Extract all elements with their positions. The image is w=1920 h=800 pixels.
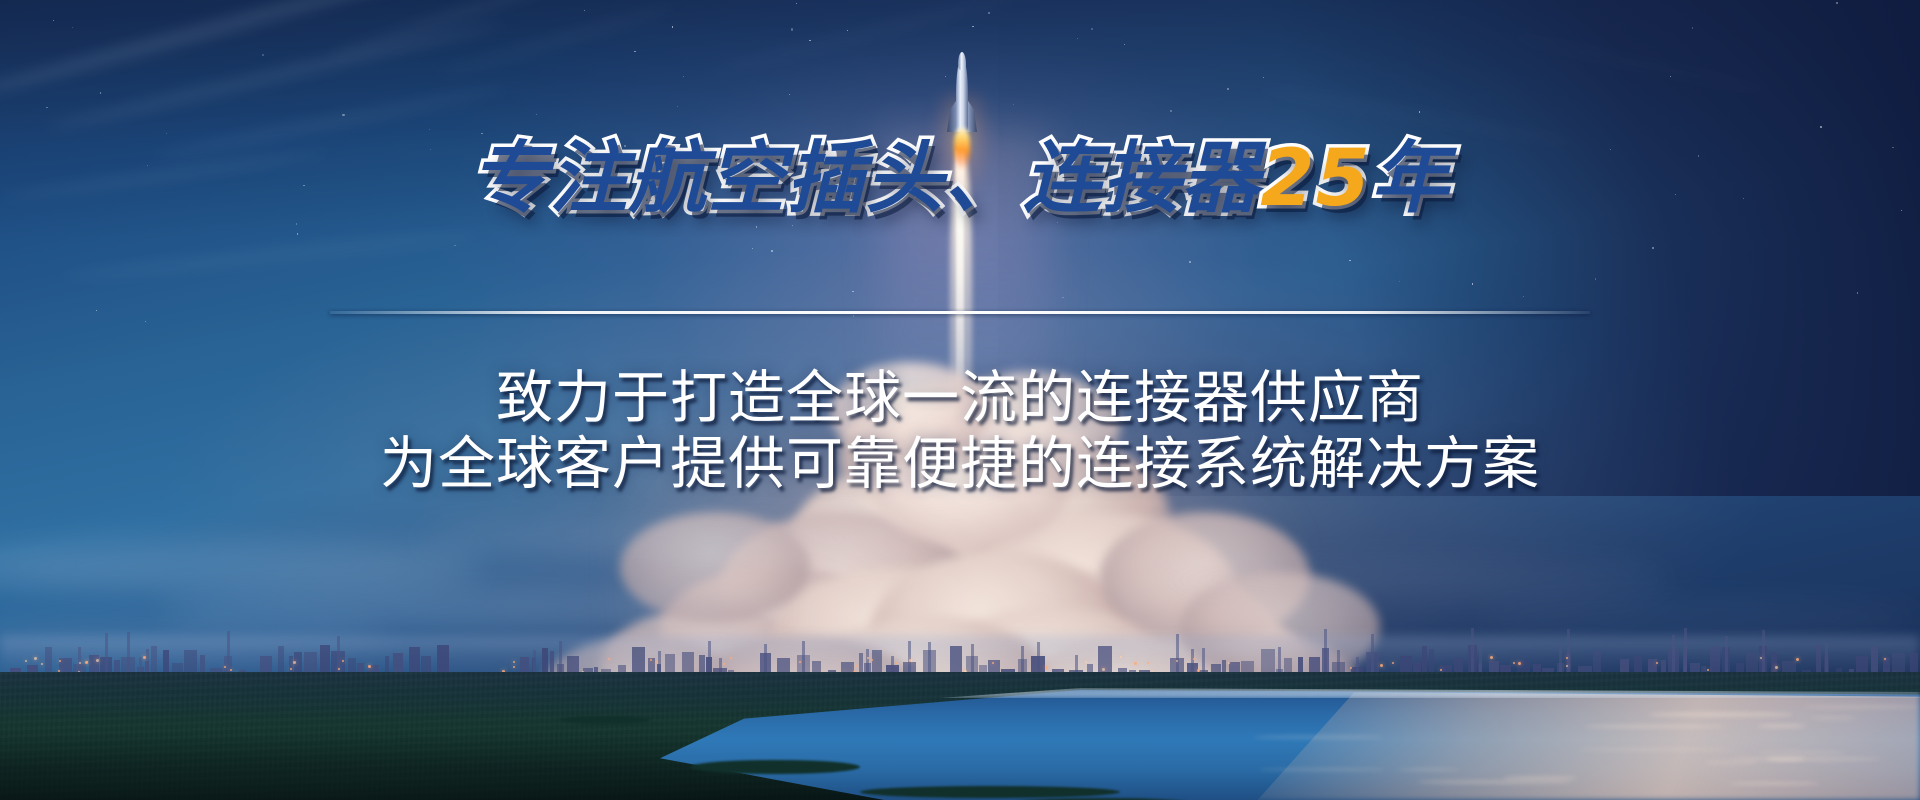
headline-main-text: 专注航空插头、连接器 <box>470 140 1260 218</box>
banner-content: 专注航空插头、连接器25年 致力于打造全球一流的连接器供应商 为全球客户提供可靠… <box>0 0 1920 800</box>
title-divider <box>330 311 1590 314</box>
headline-years-unit: 年 <box>1371 140 1450 218</box>
page-title: 专注航空插头、连接器25年 <box>0 140 1920 218</box>
hero-banner: 专注航空插头、连接器25年 致力于打造全球一流的连接器供应商 为全球客户提供可靠… <box>0 0 1920 800</box>
subtitle-line-2: 为全球客户提供可靠便捷的连接系统解决方案 <box>0 418 1920 500</box>
headline-years-number: 25 <box>1260 140 1371 218</box>
